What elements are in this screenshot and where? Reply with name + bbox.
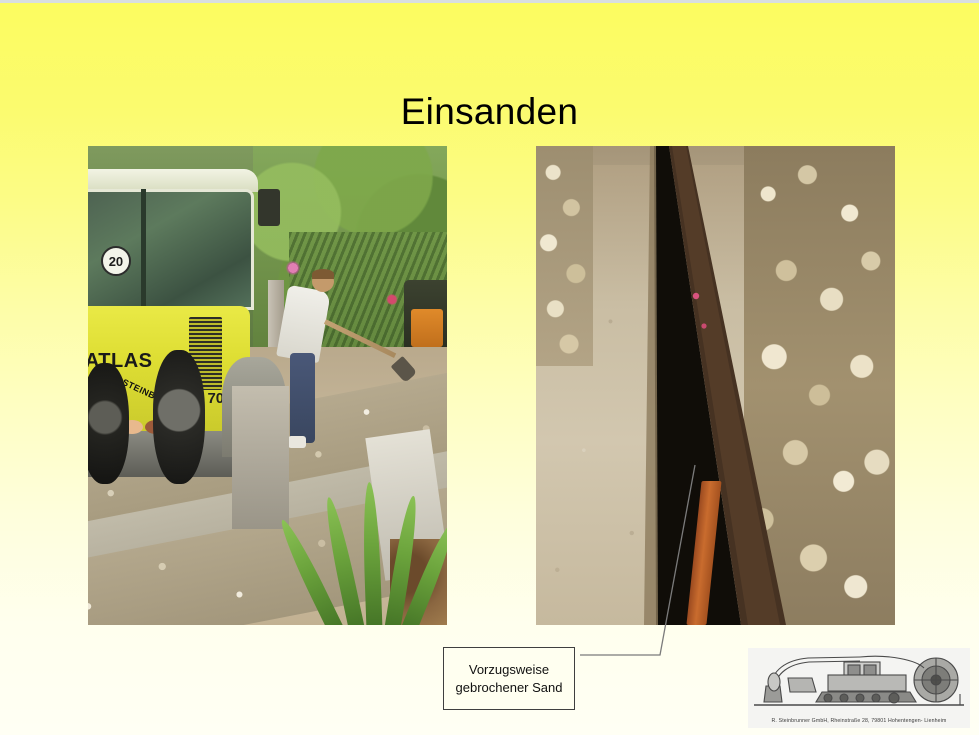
loader-cabin-pillar [141, 189, 146, 310]
orange-marker [411, 309, 443, 347]
worker-shoe [288, 436, 307, 448]
slide-canvas: Einsanden [0, 0, 979, 735]
company-logo[interactable]: R. Steinbrunner GmbH, Rheinstraße 28, 79… [748, 648, 970, 728]
plant-leaf [362, 482, 384, 625]
speed-limit-disc: 20 [101, 246, 131, 276]
marker-paint [701, 323, 706, 328]
page-title: Einsanden [0, 92, 979, 133]
worker-legs [290, 353, 314, 443]
marker-paint [693, 293, 699, 299]
trench-cut [536, 146, 895, 625]
photo-right-trench[interactable] [536, 146, 895, 625]
callout-label: Vorzugsweise gebrochener Sand [453, 661, 566, 695]
worker-hair [312, 269, 334, 279]
loader-wheel-front [153, 350, 205, 484]
photo-left-content: 20 ATLAS STEINBRUNNER 70 [88, 146, 447, 625]
photo-right-content [536, 146, 895, 625]
concrete-slabs [232, 386, 289, 530]
loader-mirror [258, 189, 280, 226]
trencher-machine-icon [748, 648, 970, 710]
logo-caption: R. Steinbrunner GmbH, Rheinstraße 28, 79… [748, 719, 970, 724]
trench-wall-left [644, 146, 658, 625]
worker-torso [276, 285, 331, 364]
callout-box[interactable]: Vorzugsweise gebrochener Sand [443, 647, 575, 710]
photo-left-loader[interactable]: 20 ATLAS STEINBRUNNER 70 [88, 146, 447, 625]
loader-wheel-rear [88, 363, 129, 484]
foreground-plant [318, 414, 426, 625]
